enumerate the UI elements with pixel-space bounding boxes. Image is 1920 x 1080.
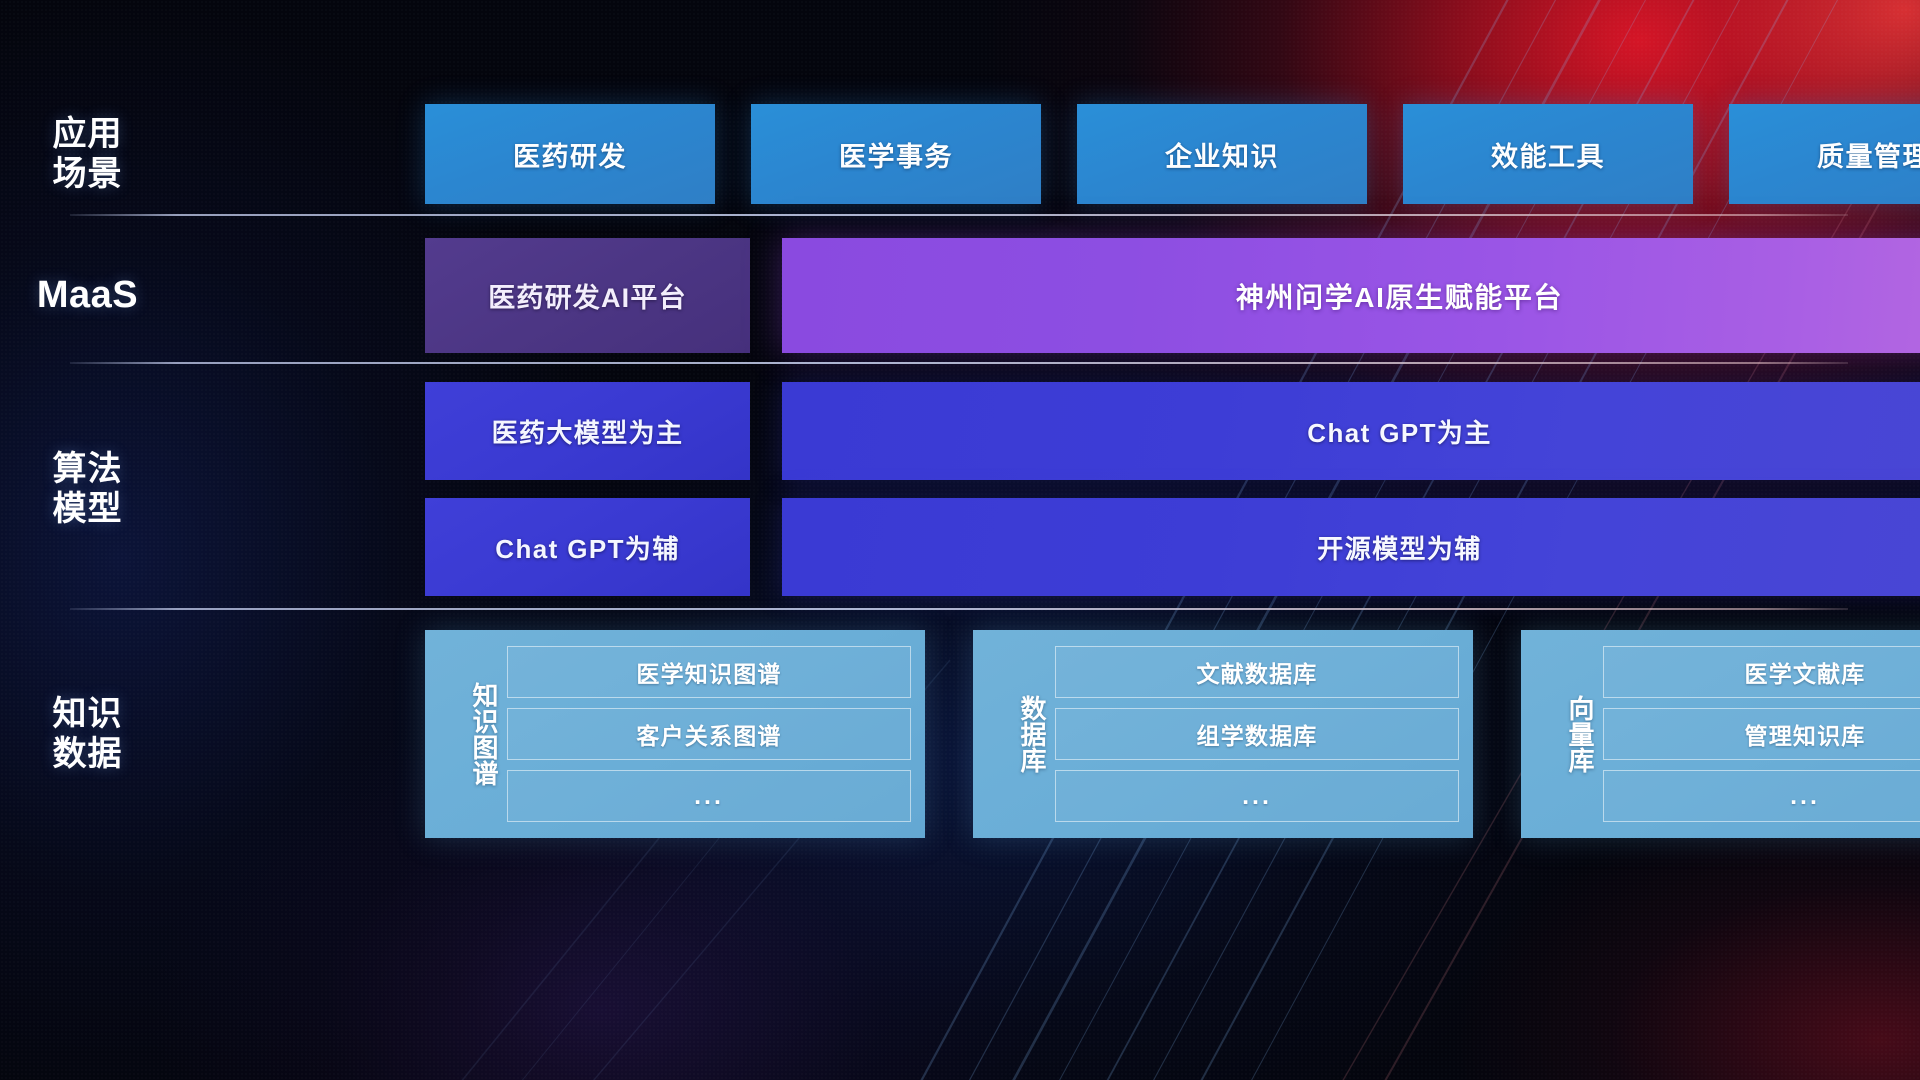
algo-box-chatgpt-primary[interactable]: Chat GPT为主 — [782, 382, 1920, 480]
knowledge-item-management-kb[interactable]: 管理知识库 — [1603, 708, 1920, 760]
knowledge-panel-label-knowledge-graph: 知识图谱 — [441, 682, 499, 786]
knowledge-item-literature-db[interactable]: 文献数据库 — [1055, 646, 1459, 698]
row-label-knowledge: 知识 数据 — [0, 694, 175, 774]
knowledge-items-vector-store: 医学文献库 管理知识库 ... — [1603, 646, 1920, 822]
knowledge-item-omics-db[interactable]: 组学数据库 — [1055, 708, 1459, 760]
knowledge-item-more-vector[interactable]: ... — [1603, 770, 1920, 822]
row-body-knowledge: 知识图谱 医学知识图谱 客户关系图谱 ... 数据库 文献数据库 组学数据库 .… — [175, 630, 1920, 838]
row-label-algorithm: 算法 模型 — [0, 449, 175, 529]
knowledge-item-medical-literature[interactable]: 医学文献库 — [1603, 646, 1920, 698]
row-knowledge-data: 知识 数据 知识图谱 医学知识图谱 客户关系图谱 ... 数据库 — [0, 630, 1920, 838]
row-label-knowledge-line1: 知识 — [0, 694, 175, 734]
row-algorithm-model: 算法 模型 医药大模型为主 Chat GPT为主 Chat GPT为辅 开源模型… — [0, 382, 1920, 596]
application-box-track: 医药研发 医学事务 企业知识 效能工具 质量管理 — [425, 104, 1920, 204]
maas-box-shenzhou-wenxue[interactable]: 神州问学AI原生赋能平台 — [782, 238, 1920, 353]
knowledge-items-database: 文献数据库 组学数据库 ... — [1055, 646, 1459, 822]
maas-box-track: 医药研发AI平台 神州问学AI原生赋能平台 — [425, 238, 1920, 353]
algo-box-chatgpt-secondary[interactable]: Chat GPT为辅 — [425, 498, 750, 596]
app-box-medicine-rd[interactable]: 医药研发 — [425, 104, 715, 204]
row-label-algorithm-line1: 算法 — [0, 449, 175, 489]
separator-maas-algorithm — [70, 362, 1848, 364]
algo-box-pharma-llm-primary[interactable]: 医药大模型为主 — [425, 382, 750, 480]
knowledge-panel-vector-store: 向量库 医学文献库 管理知识库 ... — [1521, 630, 1920, 838]
architecture-diagram: 应用 场景 医药研发 医学事务 企业知识 效能工具 质量管理 MaaS 医药研发… — [0, 0, 1920, 1080]
knowledge-item-more-db[interactable]: ... — [1055, 770, 1459, 822]
row-label-maas: MaaS — [0, 273, 175, 318]
app-box-enterprise-knowledge[interactable]: 企业知识 — [1077, 104, 1367, 204]
app-box-quality-management[interactable]: 质量管理 — [1729, 104, 1920, 204]
algorithm-box-track: 医药大模型为主 Chat GPT为主 Chat GPT为辅 开源模型为辅 — [425, 382, 1920, 596]
row-label-application-line1: 应用 — [0, 114, 175, 154]
row-label-application: 应用 场景 — [0, 114, 175, 194]
separator-algorithm-knowledge — [70, 608, 1848, 610]
row-label-application-line2: 场景 — [0, 154, 175, 194]
algorithm-line-secondary: Chat GPT为辅 开源模型为辅 — [425, 498, 1920, 596]
app-box-efficiency-tools[interactable]: 效能工具 — [1403, 104, 1693, 204]
knowledge-item-customer-kg[interactable]: 客户关系图谱 — [507, 708, 911, 760]
knowledge-items-knowledge-graph: 医学知识图谱 客户关系图谱 ... — [507, 646, 911, 822]
knowledge-panel-label-database: 数据库 — [989, 695, 1047, 773]
knowledge-panel-knowledge-graph: 知识图谱 医学知识图谱 客户关系图谱 ... — [425, 630, 925, 838]
row-application-scenario: 应用 场景 医药研发 医学事务 企业知识 效能工具 质量管理 — [0, 104, 1920, 204]
row-label-algorithm-line2: 模型 — [0, 489, 175, 529]
maas-box-pharma-ai-platform[interactable]: 医药研发AI平台 — [425, 238, 750, 353]
knowledge-item-medical-kg[interactable]: 医学知识图谱 — [507, 646, 911, 698]
algo-box-opensource-secondary[interactable]: 开源模型为辅 — [782, 498, 1920, 596]
row-body-maas: 医药研发AI平台 神州问学AI原生赋能平台 — [175, 238, 1920, 353]
knowledge-panel-track: 知识图谱 医学知识图谱 客户关系图谱 ... 数据库 文献数据库 组学数据库 .… — [425, 630, 1920, 838]
knowledge-item-more-kg[interactable]: ... — [507, 770, 911, 822]
app-box-medical-affairs[interactable]: 医学事务 — [751, 104, 1041, 204]
knowledge-panel-label-vector-store: 向量库 — [1537, 695, 1595, 773]
separator-application-maas — [70, 214, 1848, 216]
row-maas: MaaS 医药研发AI平台 神州问学AI原生赋能平台 — [0, 238, 1920, 353]
algorithm-line-primary: 医药大模型为主 Chat GPT为主 — [425, 382, 1920, 480]
row-body-application: 医药研发 医学事务 企业知识 效能工具 质量管理 — [175, 104, 1920, 204]
knowledge-panel-database: 数据库 文献数据库 组学数据库 ... — [973, 630, 1473, 838]
row-label-knowledge-line2: 数据 — [0, 734, 175, 774]
row-body-algorithm: 医药大模型为主 Chat GPT为主 Chat GPT为辅 开源模型为辅 — [175, 382, 1920, 596]
